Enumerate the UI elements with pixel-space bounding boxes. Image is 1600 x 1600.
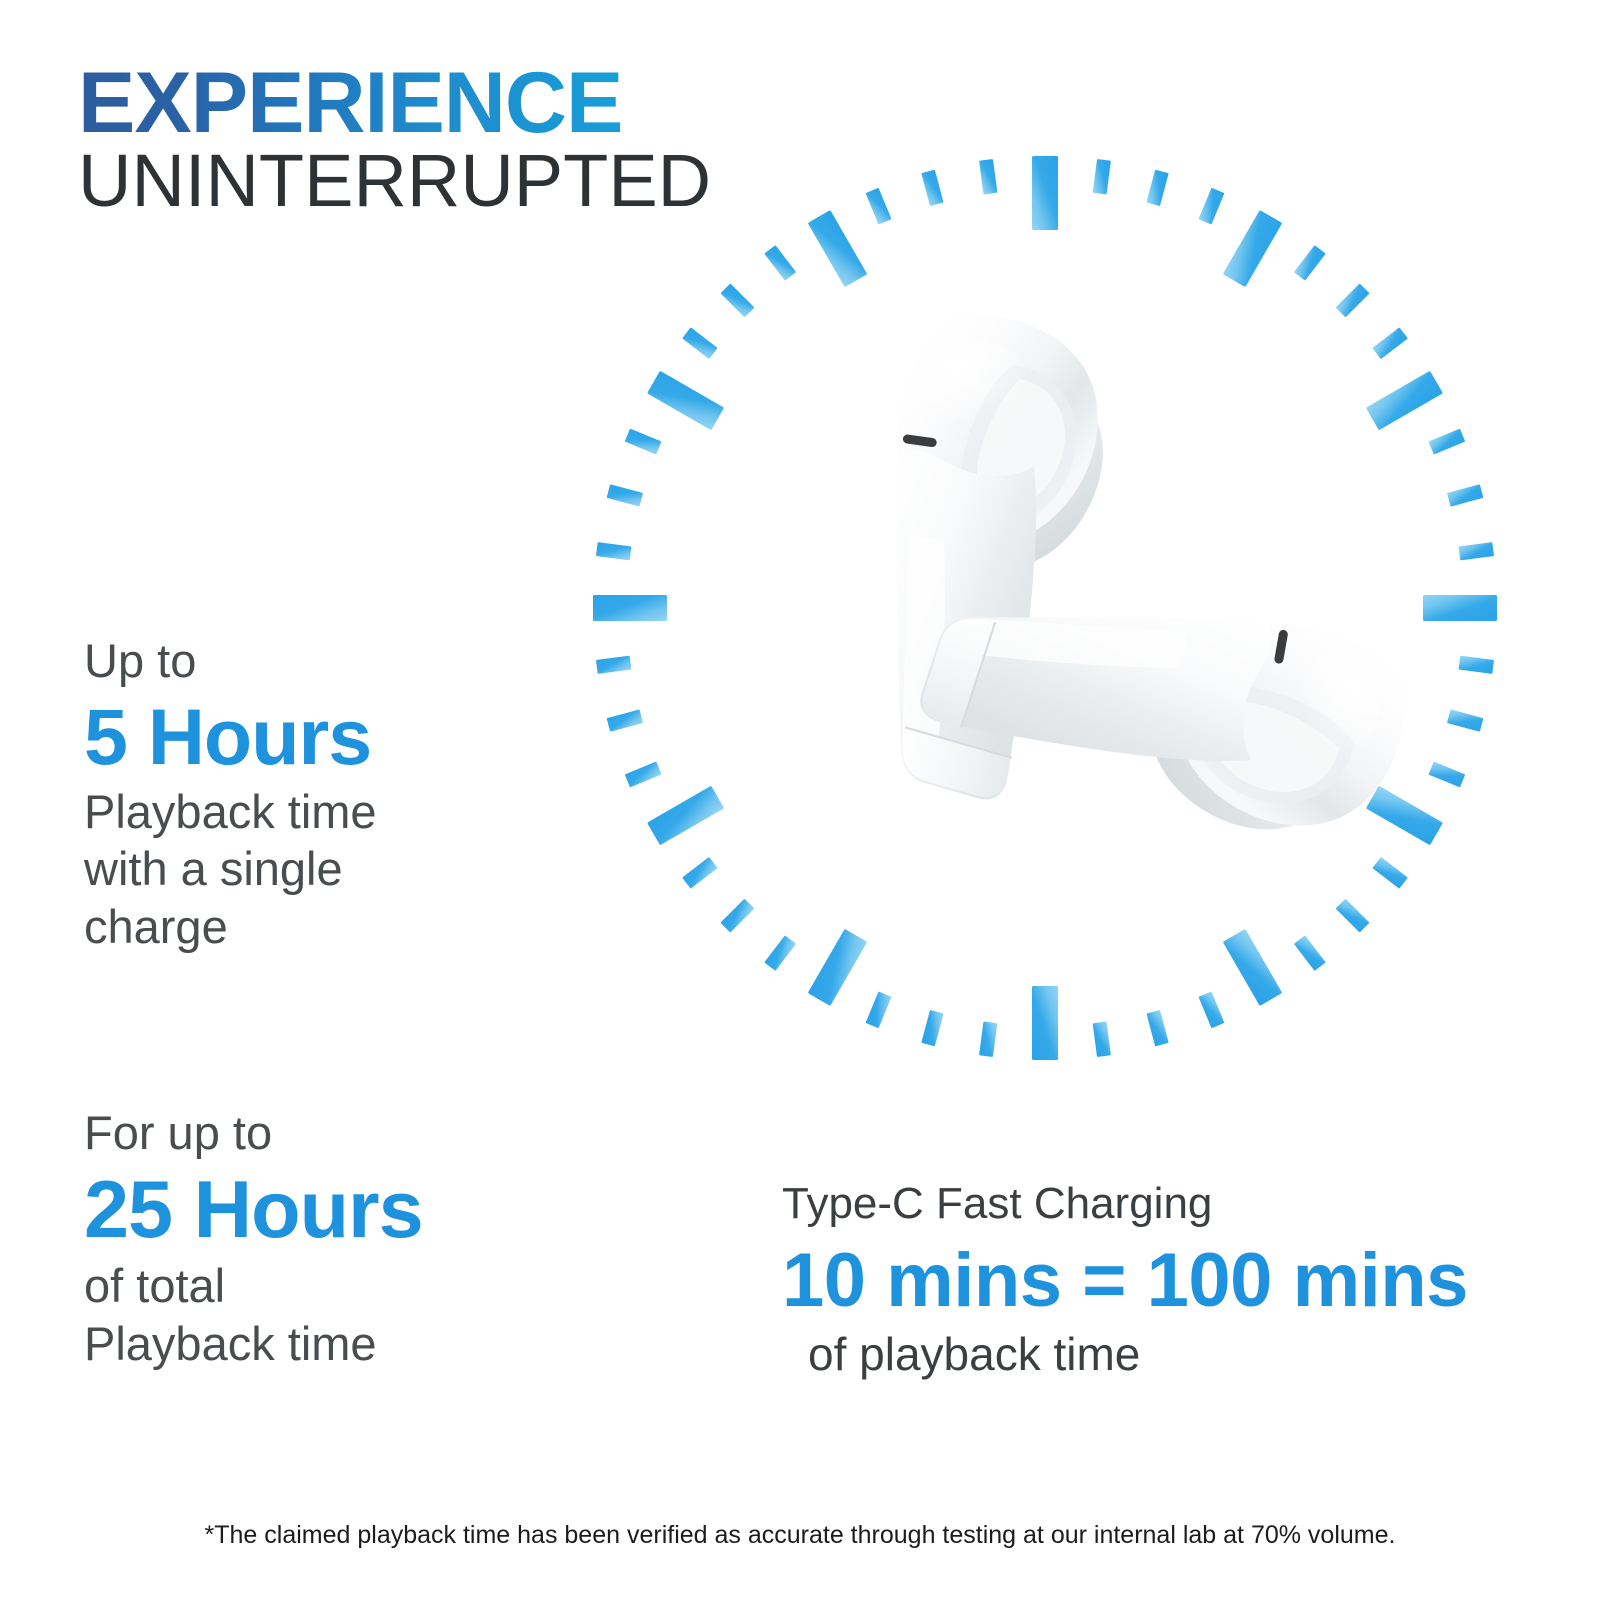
dial-tick-major: [808, 929, 868, 1006]
dial-tick-major: [1032, 156, 1058, 230]
disclaimer-footnote: *The claimed playback time has been veri…: [0, 1521, 1600, 1550]
clock-dial-ring: [585, 148, 1505, 1068]
dial-tick-minor: [1429, 761, 1466, 787]
infographic-canvas: EXPERIENCE UNINTERRUPTED: [0, 0, 1600, 1600]
fast-charging-subtext: of playback time: [782, 1327, 1468, 1382]
dial-tick-major: [1423, 595, 1497, 621]
dial-tick-major: [1032, 986, 1058, 1060]
dial-tick-minor: [596, 542, 632, 560]
fast-charging-block: Type-C Fast Charging 10 mins = 100 mins …: [782, 1178, 1468, 1382]
dial-tick-minor: [1336, 283, 1370, 317]
dial-tick-major: [647, 371, 724, 431]
dial-tick-minor: [625, 429, 662, 455]
dial-tick-minor: [596, 656, 632, 674]
dial-tick-minor: [979, 1022, 997, 1058]
dial-tick-minor: [764, 245, 796, 280]
dial-tick-minor: [1146, 1010, 1168, 1046]
dial-tick-minor: [1459, 656, 1495, 674]
stat-playback-desc-1: Playback time: [84, 783, 377, 840]
dial-tick-minor: [1294, 245, 1326, 280]
dial-tick-minor: [1372, 327, 1407, 359]
fast-charging-title: Type-C Fast Charging: [782, 1178, 1468, 1231]
dial-tick-minor: [720, 283, 754, 317]
dial-tick-major: [1366, 371, 1443, 431]
stat-total-value: 25 Hours: [84, 1165, 423, 1256]
dial-tick-minor: [607, 484, 643, 506]
dial-tick-minor: [1198, 992, 1224, 1029]
dial-tick-minor: [720, 899, 754, 933]
dial-tick-minor: [921, 1010, 943, 1046]
stat-playback-value: 5 Hours: [84, 693, 377, 781]
dial-tick-minor: [1459, 542, 1495, 560]
dial-tick-minor: [764, 935, 796, 970]
dial-tick-minor: [866, 188, 892, 225]
dial-tick-minor: [1146, 170, 1168, 206]
page-title-line1: EXPERIENCE: [78, 62, 622, 145]
dial-ticks: [593, 156, 1497, 1060]
dial-tick-minor: [979, 159, 997, 195]
stat-playback-time: Up to 5 Hours Playback time with a singl…: [84, 634, 377, 955]
stat-total-playback: For up to 25 Hours of total Playback tim…: [84, 1106, 423, 1372]
dial-tick-minor: [866, 992, 892, 1029]
fast-charging-equation: 10 mins = 100 mins: [782, 1237, 1468, 1325]
stat-playback-desc-3: charge: [84, 898, 377, 955]
dial-tick-minor: [682, 857, 717, 889]
stat-playback-eyebrow: Up to: [84, 634, 377, 689]
dial-tick-minor: [625, 761, 662, 787]
dial-tick-major: [647, 786, 724, 846]
dial-tick-minor: [607, 709, 643, 731]
dial-tick-minor: [1447, 709, 1483, 731]
dial-tick-minor: [1336, 899, 1370, 933]
dial-tick-minor: [921, 170, 943, 206]
dial-tick-minor: [682, 327, 717, 359]
stat-total-desc-1: of total: [84, 1257, 423, 1314]
dial-tick-minor: [1429, 429, 1466, 455]
dial-tick-major: [808, 210, 868, 287]
stat-total-eyebrow: For up to: [84, 1106, 423, 1161]
dial-tick-major: [1366, 786, 1443, 846]
dial-tick-minor: [1372, 857, 1407, 889]
stat-playback-desc-2: with a single: [84, 840, 377, 897]
stat-total-desc-2: Playback time: [84, 1315, 423, 1372]
dial-tick-minor: [1093, 159, 1111, 195]
dial-tick-minor: [1093, 1022, 1111, 1058]
dial-tick-minor: [1447, 484, 1483, 506]
dial-tick-major: [593, 595, 667, 621]
dial-tick-major: [1223, 210, 1283, 287]
dial-tick-minor: [1198, 188, 1224, 225]
dial-tick-minor: [1294, 935, 1326, 970]
dial-tick-major: [1223, 929, 1283, 1006]
